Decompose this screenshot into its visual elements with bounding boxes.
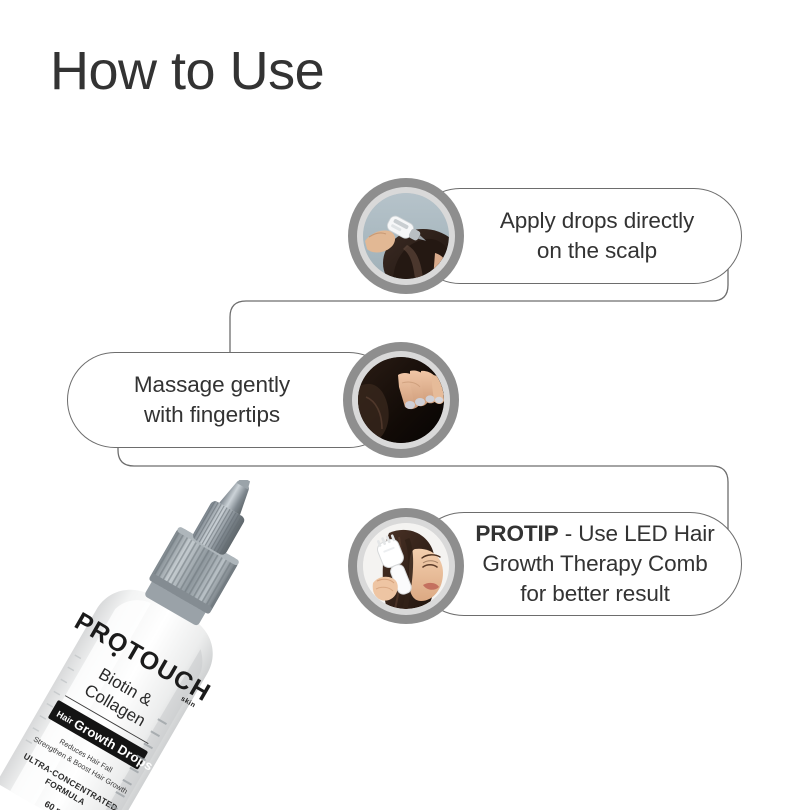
woman-using-led-comb-photo: [363, 523, 449, 609]
step-massage-badge: [343, 342, 459, 458]
step-apply-badge: [348, 178, 464, 294]
step-apply-line1: Apply drops directly: [500, 208, 694, 233]
product-bottle: PROTOUCH skin Biotin & Collagen Hair Gro…: [0, 480, 340, 810]
step-massage-line1: Massage gently: [134, 372, 290, 397]
fingertips-massaging-scalp-photo: [358, 357, 444, 443]
step-massage-badge-inner-ring: [352, 351, 450, 449]
step-protip-badge: [348, 508, 464, 624]
step-apply-text: Apply drops directly on the scalp: [438, 206, 716, 265]
step-protip-badge-inner-ring: [357, 517, 455, 615]
step-protip-line1-rest: - Use LED Hair: [559, 521, 715, 546]
step-apply-badge-inner-ring: [357, 187, 455, 285]
step-massage-line2: with fingertips: [144, 402, 280, 427]
step-massage-text: Massage gently with fingertips: [112, 370, 352, 429]
page-title: How to Use: [50, 42, 324, 101]
step-protip-text: PROTIP - Use LED Hair Growth Therapy Com…: [417, 519, 736, 608]
how-to-use-infographic: How to Use Apply drops directly on the s…: [0, 0, 800, 800]
protip-label: PROTIP: [475, 521, 558, 546]
step-protip-line2: Growth Therapy Comb: [482, 551, 707, 576]
step-protip-line3: for better result: [520, 581, 670, 606]
step-apply-line2: on the scalp: [537, 238, 657, 263]
applying-drops-to-scalp-photo: [363, 193, 449, 279]
